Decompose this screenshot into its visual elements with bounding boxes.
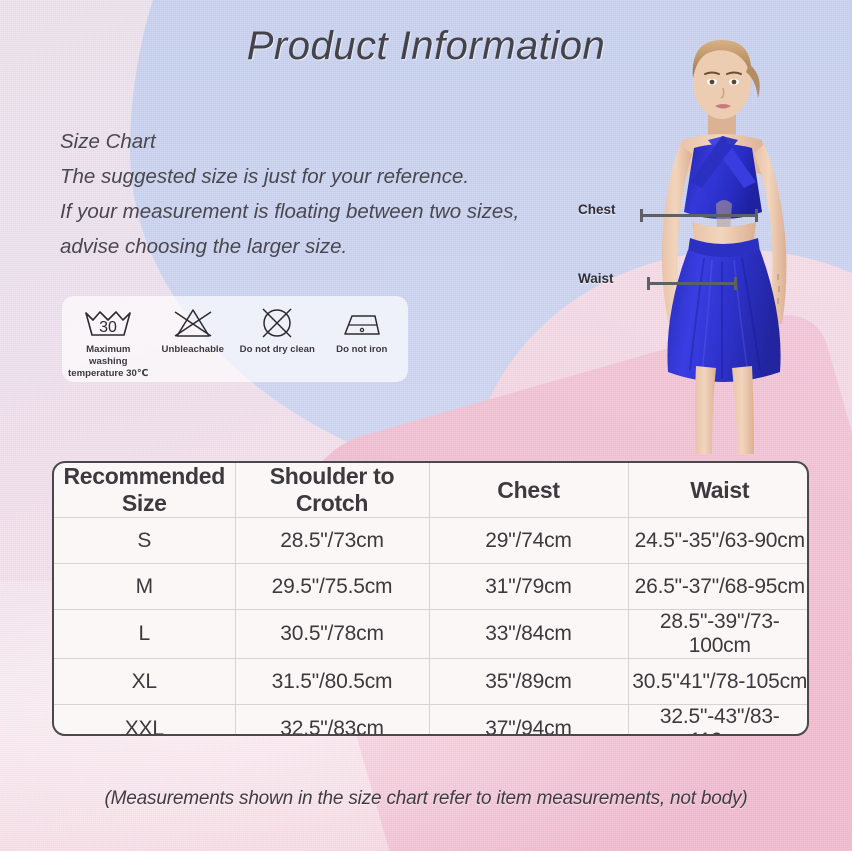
care-item-iron: Do not iron (320, 304, 405, 356)
cell-waist: 30.5"41"/78-105cm (628, 659, 809, 705)
chest-measure-cap-right (755, 209, 758, 222)
cell-waist: 28.5"-39"/73-100cm (628, 610, 809, 659)
care-item-wash: 30 Maximum washing temperature 30℃ (66, 304, 151, 380)
care-label-iron: Do not iron (336, 344, 387, 356)
chest-measure-line (640, 214, 758, 217)
cell-shoulder-to-crotch: 29.5"/75.5cm (235, 564, 429, 610)
unbleachable-icon (171, 304, 215, 342)
chest-measure-cap-left (640, 209, 643, 222)
table-header-row: Recommended Size Shoulder to Crotch Ches… (54, 463, 809, 518)
waist-measure-cap-left (647, 277, 650, 290)
cell-chest: 33"/84cm (429, 610, 628, 659)
cell-chest: 37"/94cm (429, 705, 628, 737)
size-chart-table-container: Recommended Size Shoulder to Crotch Ches… (52, 461, 809, 736)
waist-measure-line (647, 282, 737, 285)
cell-shoulder-to-crotch: 32.5"/83cm (235, 705, 429, 737)
cell-size: XXL (54, 705, 235, 737)
care-label-bleach: Unbleachable (162, 344, 224, 356)
cell-size: XL (54, 659, 235, 705)
size-chart-table: Recommended Size Shoulder to Crotch Ches… (54, 463, 809, 736)
size-chart-heading: Size Chart (60, 124, 580, 159)
cell-size: M (54, 564, 235, 610)
column-header-shoulder-to-crotch: Shoulder to Crotch (235, 463, 429, 518)
table-row: M 29.5"/75.5cm 31"/79cm 26.5"-37"/68-95c… (54, 564, 809, 610)
cell-shoulder-to-crotch: 31.5"/80.5cm (235, 659, 429, 705)
care-item-bleach: Unbleachable (151, 304, 236, 356)
column-header-recommended-size: Recommended Size (54, 463, 235, 518)
cell-waist: 26.5"-37"/68-95cm (628, 564, 809, 610)
table-row: S 28.5"/73cm 29"/74cm 24.5"-35"/63-90cm (54, 518, 809, 564)
waist-measure-cap-right (734, 277, 737, 290)
model-photo (612, 36, 852, 456)
column-header-chest: Chest (429, 463, 628, 518)
size-chart-intro: Size Chart The suggested size is just fo… (60, 124, 580, 264)
care-label-dry-clean: Do not dry clean (240, 344, 315, 356)
do-not-dry-clean-icon (257, 304, 297, 342)
cell-chest: 35"/89cm (429, 659, 628, 705)
care-label-wash: Maximum washing temperature 30℃ (66, 344, 151, 380)
cell-chest: 31"/79cm (429, 564, 628, 610)
svg-text:30: 30 (99, 319, 117, 336)
care-instructions-panel: 30 Maximum washing temperature 30℃ Unble… (62, 296, 408, 382)
intro-line-2: If your measurement is floating between … (60, 194, 580, 229)
cell-waist: 32.5"-43"/83-110cm (628, 705, 809, 737)
column-header-waist: Waist (628, 463, 809, 518)
intro-line-3: advise choosing the larger size. (60, 229, 580, 264)
wash-30-icon: 30 (80, 304, 136, 342)
cell-size: L (54, 610, 235, 659)
cell-shoulder-to-crotch: 30.5"/78cm (235, 610, 429, 659)
care-item-dry-clean: Do not dry clean (235, 304, 320, 356)
table-row: XL 31.5"/80.5cm 35"/89cm 30.5"41"/78-105… (54, 659, 809, 705)
table-row: XXL 32.5"/83cm 37"/94cm 32.5"-43"/83-110… (54, 705, 809, 737)
product-information-page: Product Information Size Chart The sugge… (0, 0, 852, 851)
waist-callout-label: Waist (578, 271, 614, 286)
cell-size: S (54, 518, 235, 564)
do-not-iron-icon (339, 304, 385, 342)
chest-callout-label: Chest (578, 202, 616, 217)
table-row: L 30.5"/78cm 33"/84cm 28.5"-39"/73-100cm (54, 610, 809, 659)
cell-shoulder-to-crotch: 28.5"/73cm (235, 518, 429, 564)
cell-waist: 24.5"-35"/63-90cm (628, 518, 809, 564)
intro-line-1: The suggested size is just for your refe… (60, 159, 580, 194)
cell-chest: 29"/74cm (429, 518, 628, 564)
measurements-footnote: (Measurements shown in the size chart re… (0, 788, 852, 810)
